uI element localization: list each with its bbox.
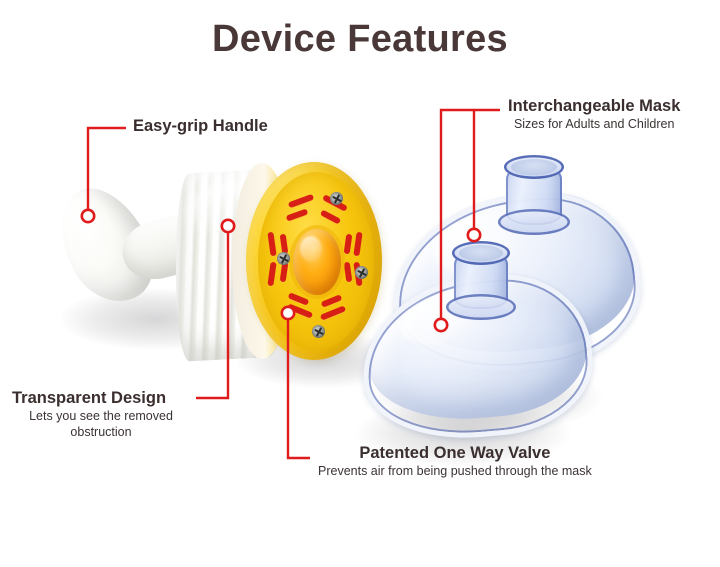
callout-subtitle: Lets you see the removed obstruction <box>12 409 190 440</box>
child-mask-port-base <box>446 294 516 320</box>
page-title: Device Features <box>0 18 720 61</box>
valve-screw <box>277 252 290 265</box>
child-mask-port-opening <box>459 245 503 261</box>
callout-title: Transparent Design <box>12 389 190 407</box>
callout-subtitle: Sizes for Adults and Children <box>508 117 680 132</box>
valve-dome-highlight <box>300 236 322 262</box>
callout-transparent-design: Transparent Design Lets you see the remo… <box>12 389 190 440</box>
callout-interchangeable-mask: Interchangeable Mask Sizes for Adults an… <box>508 97 680 133</box>
callout-patented-one-way-valve: Patented One Way Valve Prevents air from… <box>318 444 592 480</box>
valve-screw <box>312 325 325 338</box>
callout-title: Patented One Way Valve <box>318 444 592 462</box>
adult-mask-port-opening <box>511 159 557 175</box>
infographic-canvas: Device Features <box>0 0 720 567</box>
valve-screw <box>355 266 368 279</box>
callout-easy-grip-handle: Easy-grip Handle <box>133 117 268 135</box>
callout-subtitle: Prevents air from being pushed through t… <box>318 464 592 479</box>
adult-mask-port-base <box>498 209 570 235</box>
valve-screw <box>330 192 343 205</box>
callout-title: Easy-grip Handle <box>133 117 268 135</box>
callout-title: Interchangeable Mask <box>508 97 680 115</box>
